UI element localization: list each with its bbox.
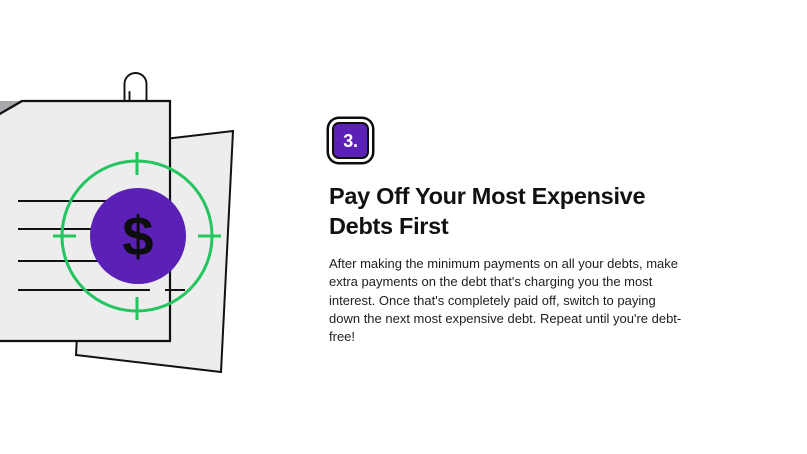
body-paragraph: After making the minimum payments on all… [329,255,685,346]
dollar-sign-glyph: $ [122,205,153,268]
step-number-label: 3. [343,132,357,150]
slide-root: $ 3. Pay Off Your Most Expensive Debts F… [0,0,807,454]
page-title: Pay Off Your Most Expensive Debts First [329,181,674,241]
content-column: 3. Pay Off Your Most Expensive Debts Fir… [329,119,699,346]
debt-target-illustration: $ [0,0,300,454]
step-number-badge: 3. [332,122,369,159]
